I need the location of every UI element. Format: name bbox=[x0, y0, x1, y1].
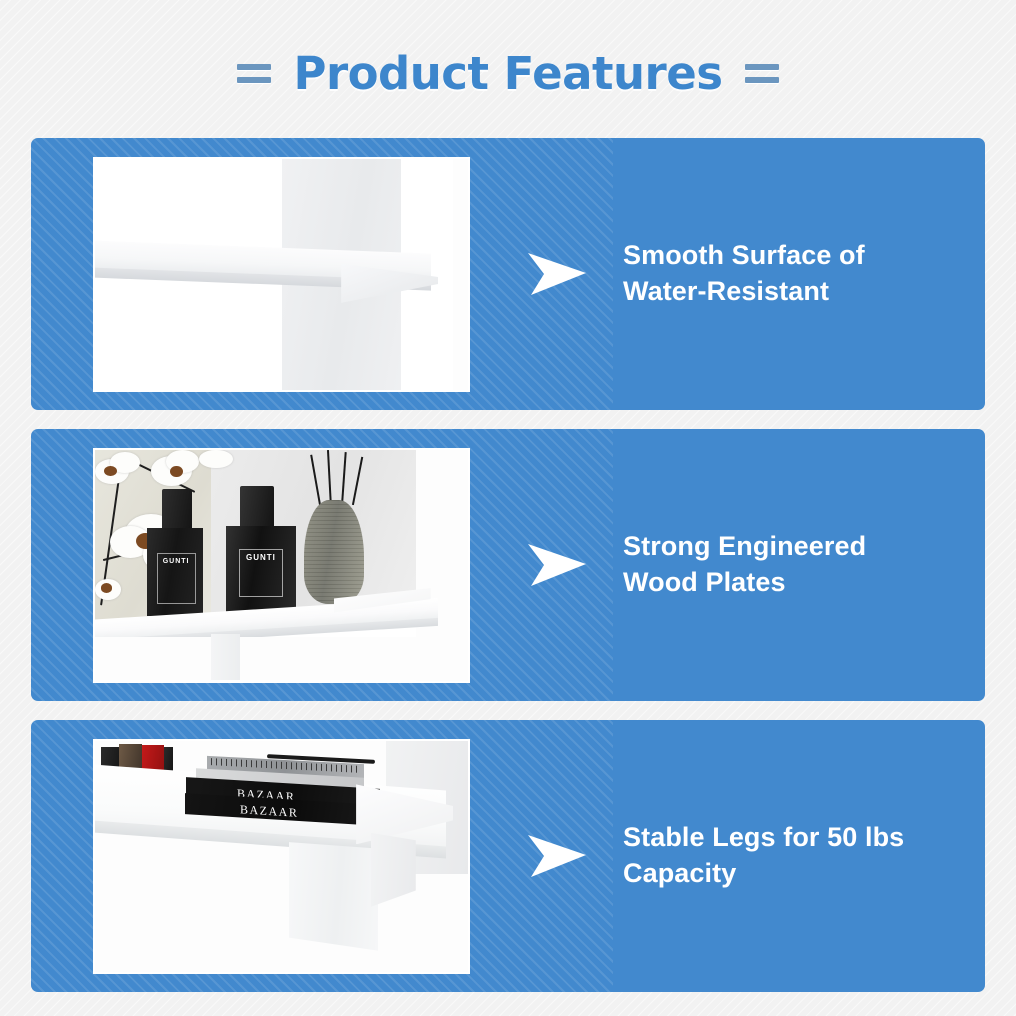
feature-caption-2-line1: Strong Engineered bbox=[623, 529, 866, 565]
feature-image-frame-3: BAZAAR BAZAAR bbox=[93, 739, 470, 974]
arrow-right-icon-2 bbox=[525, 542, 589, 588]
feature-list: Smooth Surface of Water-Resistant bbox=[0, 138, 1016, 992]
feature-caption-1: Smooth Surface of Water-Resistant bbox=[623, 238, 865, 309]
feature-panel-engineered-wood: GUNTI GUNTI bbox=[31, 429, 985, 701]
equals-mark-right-icon bbox=[745, 64, 779, 83]
feature-photo-smooth-surface bbox=[95, 159, 468, 390]
arrow-right-icon-1 bbox=[525, 251, 589, 297]
feature-photo-stable-legs: BAZAAR BAZAAR bbox=[95, 741, 468, 972]
feature-caption-3: Stable Legs for 50 lbs Capacity bbox=[623, 820, 904, 891]
feature-panel-stable-legs: BAZAAR BAZAAR Stable Legs for 50 lbs Cap… bbox=[31, 720, 985, 992]
feature-caption-1-line1: Smooth Surface of bbox=[623, 238, 865, 274]
perfume-bottle-1-label: GUNTI bbox=[157, 558, 196, 565]
feature-image-frame-1 bbox=[93, 157, 470, 392]
feature-caption-1-line2: Water-Resistant bbox=[623, 274, 865, 310]
page-header: Product Features bbox=[0, 0, 1016, 138]
feature-caption-3-line2: Capacity bbox=[623, 856, 904, 892]
perfume-bottle-2-label: GUNTI bbox=[239, 553, 284, 562]
feature-caption-3-line1: Stable Legs for 50 lbs bbox=[623, 820, 904, 856]
feature-image-frame-2: GUNTI GUNTI bbox=[93, 448, 470, 683]
page-title: Product Features bbox=[293, 47, 722, 100]
feature-panel-smooth-surface: Smooth Surface of Water-Resistant bbox=[31, 138, 985, 410]
feature-caption-2-line2: Wood Plates bbox=[623, 565, 866, 601]
feature-photo-engineered-wood: GUNTI GUNTI bbox=[95, 450, 468, 681]
equals-mark-left-icon bbox=[237, 64, 271, 83]
feature-caption-2: Strong Engineered Wood Plates bbox=[623, 529, 866, 600]
arrow-right-icon-3 bbox=[525, 833, 589, 879]
